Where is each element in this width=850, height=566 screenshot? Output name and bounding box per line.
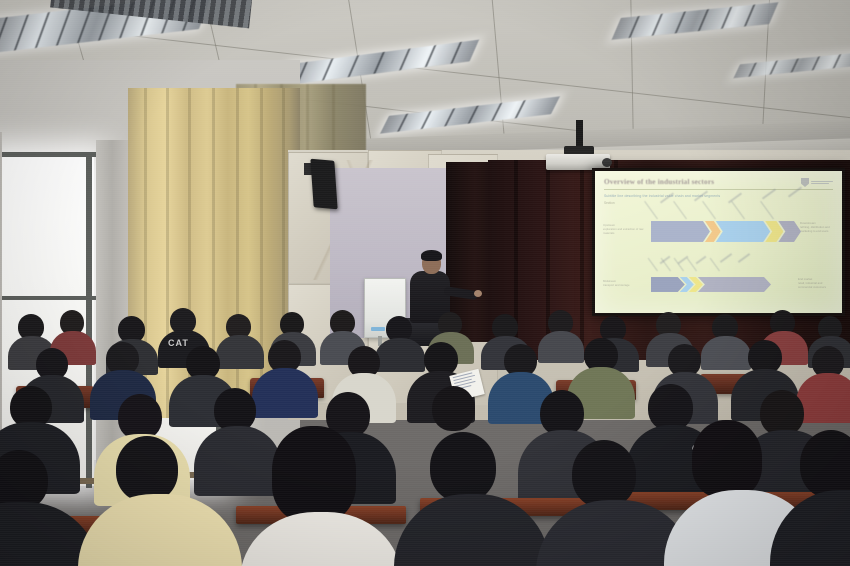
row2-right-caption: End market retail, industrial and commer… <box>798 277 836 290</box>
projector-lens-icon <box>602 158 612 167</box>
slide-title: Overview of the industrial sectors <box>604 178 833 186</box>
row1-right-caption: Downstream refining, distribution and ma… <box>800 221 836 234</box>
process-chevron-row-1 <box>651 221 801 242</box>
ceiling-light-panel <box>277 40 479 87</box>
screen-surface: Overview of the industrial sectors Subti… <box>595 171 842 313</box>
presenter-hand <box>474 290 482 297</box>
slide-content: Overview of the industrial sectors Subti… <box>595 171 842 313</box>
row1-tick-labels <box>657 197 774 219</box>
chevron-segment <box>651 277 685 292</box>
chevron-segment <box>651 221 710 242</box>
ceiling-light-panel <box>612 2 779 40</box>
lecture-hall-photo: Overview of the industrial sectors Subti… <box>0 0 850 566</box>
ceiling-light-panel <box>380 96 560 133</box>
jacket-print: CAT <box>168 338 189 348</box>
projector-pole <box>576 120 583 148</box>
ceiling-light-panel <box>733 52 850 78</box>
row1-left-caption: Upstream exploration and extraction of r… <box>603 223 647 236</box>
row2-left-caption: Midstream transport and storage <box>603 279 645 287</box>
audience: CAT <box>0 300 850 566</box>
chevron-segment <box>698 277 771 292</box>
projection-screen[interactable]: Overview of the industrial sectors Subti… <box>592 168 845 316</box>
presenter-hair <box>421 250 442 261</box>
chevron-segment <box>716 221 770 242</box>
wall-speaker <box>310 159 337 210</box>
process-chevron-row-2 <box>651 277 771 292</box>
